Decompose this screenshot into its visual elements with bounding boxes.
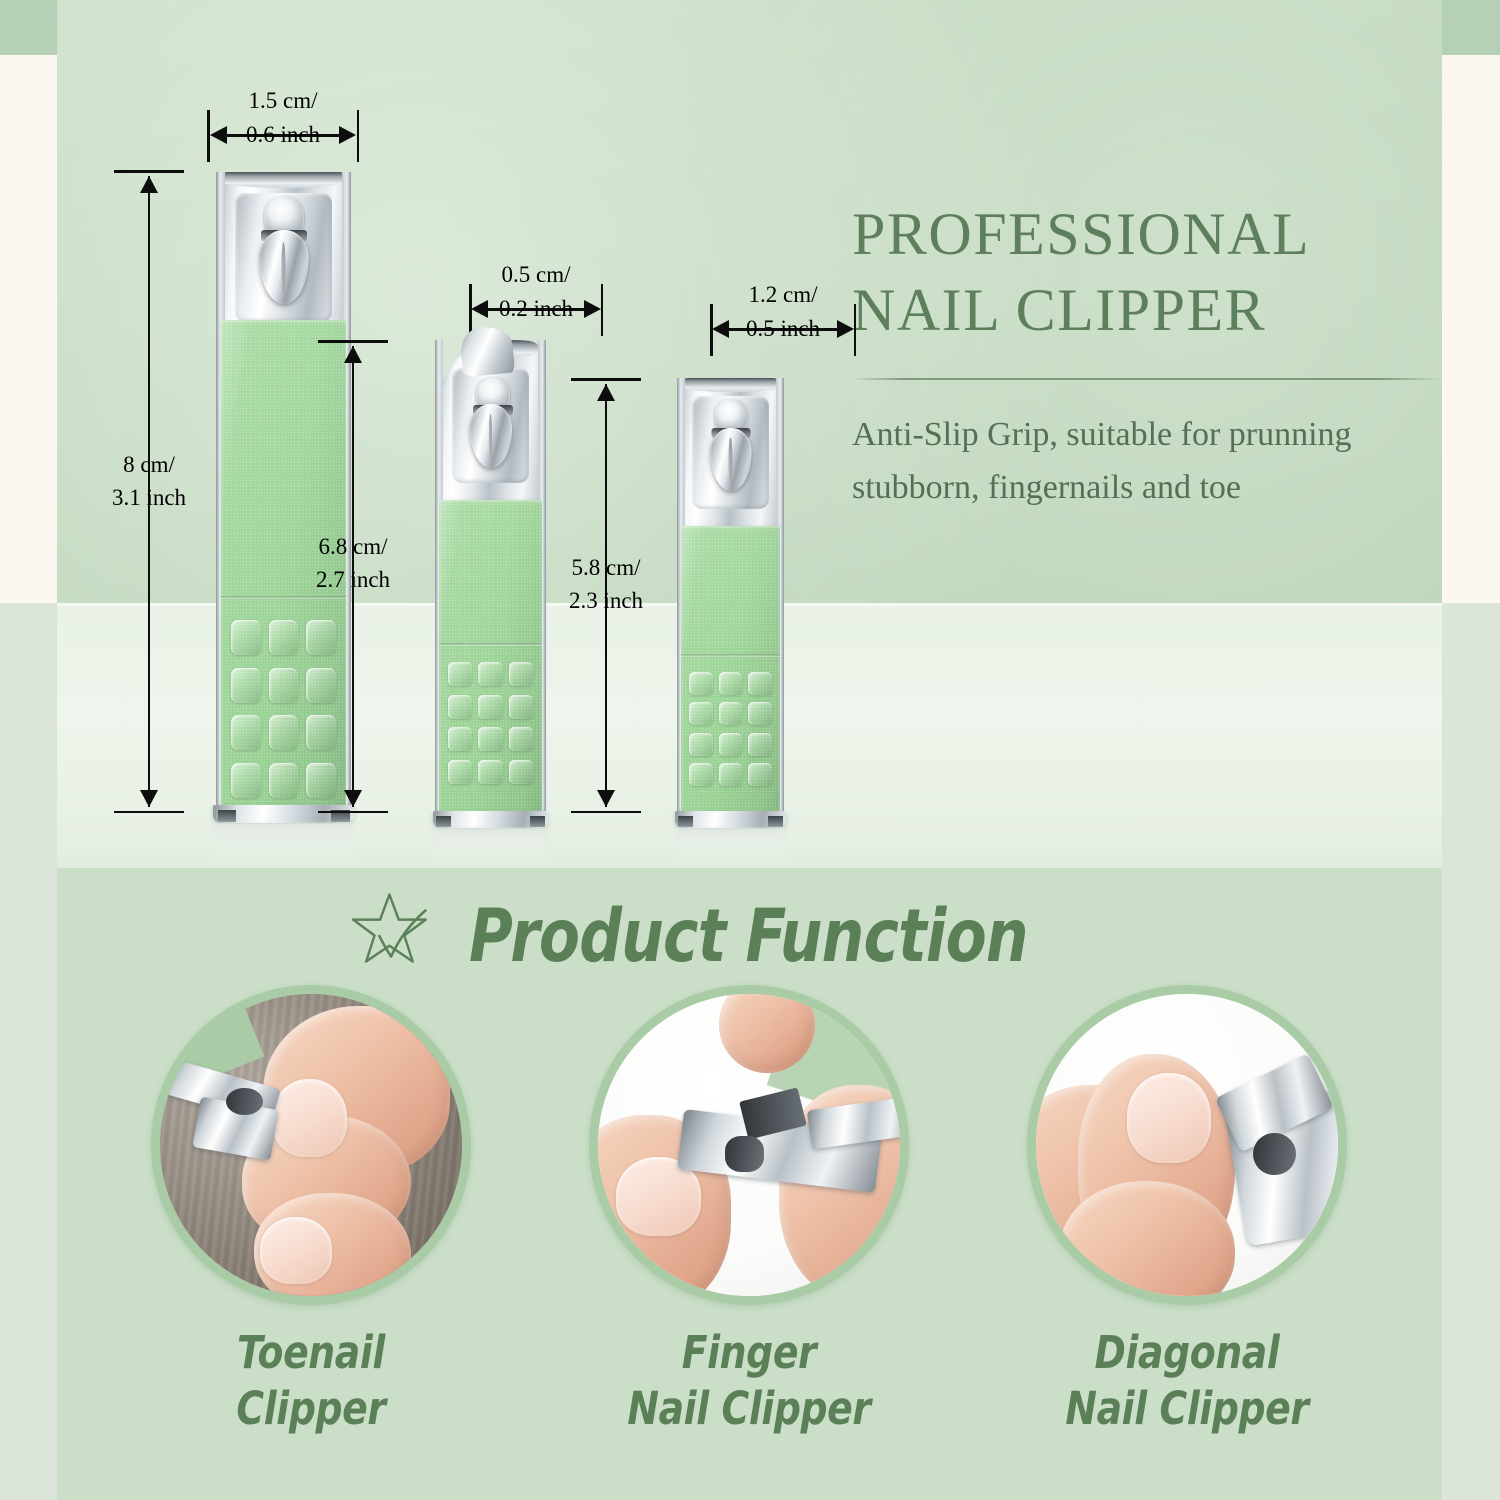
grip-bump bbox=[231, 620, 261, 655]
frame-muted-block-right bbox=[1442, 603, 1500, 1500]
clipper-small-base-notch-left bbox=[678, 816, 692, 827]
grip-bump bbox=[719, 733, 743, 756]
headline-line-2: NAIL CLIPPER bbox=[852, 272, 1412, 348]
clipper-medium-grip-pad bbox=[439, 500, 541, 811]
function-card-toenail[interactable]: Toenail Clipper bbox=[151, 985, 471, 1437]
clipper-medium-base-notch-left bbox=[436, 816, 451, 827]
clipper-large-base-notch-left bbox=[218, 810, 236, 821]
clipper-tool-pivot bbox=[1253, 1133, 1295, 1175]
clipper-small-reflection bbox=[675, 828, 786, 868]
product-function-heading: Product Function bbox=[349, 885, 1150, 988]
caption-diagonal: Diagonal Nail Clipper bbox=[1027, 1325, 1347, 1437]
width-label-large-inch: 0.6 inch bbox=[167, 120, 399, 150]
grip-bump bbox=[269, 620, 299, 655]
dimensions-section: PROFESSIONAL NAIL CLIPPER Anti-Slip Grip… bbox=[57, 0, 1442, 868]
height-label-large-inch: 3.1 inch bbox=[57, 483, 242, 513]
clipper-small-base bbox=[675, 811, 786, 828]
clipper-small-grip-pad bbox=[681, 526, 779, 811]
clipper-large-reflection bbox=[213, 823, 353, 868]
clipper-medium-base bbox=[433, 811, 548, 828]
grip-bump bbox=[448, 727, 473, 751]
clipper-medium-reflection bbox=[433, 828, 548, 868]
grip-bump bbox=[478, 662, 503, 686]
headline-line-1: PROFESSIONAL bbox=[852, 196, 1412, 272]
height-label-small-cm: 5.8 cm/ bbox=[525, 553, 687, 583]
grip-bump bbox=[509, 760, 534, 784]
clipper-small-bump-grid bbox=[689, 672, 772, 786]
clipper-tool-pivot bbox=[725, 1136, 764, 1172]
caption-diagonal-line-2: Nail Clipper bbox=[1053, 1381, 1322, 1437]
toenail-shape bbox=[272, 1079, 348, 1158]
height-measure-large: 8 cm/ 3.1 inch bbox=[106, 170, 192, 813]
title-block: PROFESSIONAL NAIL CLIPPER Anti-Slip Grip… bbox=[852, 196, 1412, 514]
clipper-small-base-notch-right bbox=[768, 816, 782, 827]
grip-bump bbox=[231, 668, 261, 703]
grip-bump bbox=[689, 672, 713, 695]
clipper-medium-grip-seam bbox=[439, 643, 541, 646]
grip-bump bbox=[509, 695, 534, 719]
grip-bump bbox=[748, 763, 772, 786]
grip-bump bbox=[719, 763, 743, 786]
subheadline-text: Anti-Slip Grip, suitable for prunning st… bbox=[852, 408, 1430, 514]
fingernail-shape bbox=[1127, 1073, 1212, 1164]
function-cards: Toenail Clipper bbox=[57, 985, 1442, 1485]
grip-bump bbox=[478, 760, 503, 784]
infographic-panel: PROFESSIONAL NAIL CLIPPER Anti-Slip Grip… bbox=[57, 0, 1442, 1500]
grip-bump bbox=[748, 733, 772, 756]
width-label-small-cm: 1.2 cm/ bbox=[668, 280, 898, 310]
height-label-medium-cm: 6.8 cm/ bbox=[272, 532, 434, 562]
frame-cream-block-left bbox=[0, 55, 57, 603]
grip-bump bbox=[748, 702, 772, 725]
photo-fingernail-clipping bbox=[598, 994, 900, 1296]
width-label-large-cm: 1.5 cm/ bbox=[167, 86, 399, 116]
product-function-title: Product Function bbox=[469, 894, 1028, 979]
photo-ring-diagonal bbox=[1027, 985, 1347, 1305]
clipper-small bbox=[677, 378, 784, 814]
title-divider bbox=[852, 378, 1440, 380]
height-label-small-inch: 2.3 inch bbox=[525, 586, 687, 616]
function-card-finger[interactable]: Finger Nail Clipper bbox=[589, 985, 909, 1437]
height-measure-small: 5.8 cm/ 2.3 inch bbox=[563, 378, 649, 813]
caption-finger-line-2: Nail Clipper bbox=[615, 1381, 884, 1437]
clipper-small-top-edge bbox=[679, 378, 782, 392]
width-label-medium-cm: 0.5 cm/ bbox=[421, 260, 651, 290]
height-label-large-cm: 8 cm/ bbox=[57, 450, 242, 480]
grip-bump bbox=[231, 715, 261, 750]
width-label-medium-inch: 0.2 inch bbox=[421, 294, 651, 324]
frame-muted-block-left bbox=[0, 603, 57, 1500]
caption-toenail-line-1: Toenail Clipper bbox=[177, 1325, 446, 1437]
clipper-small-head bbox=[677, 378, 784, 530]
caption-toenail: Toenail Clipper bbox=[151, 1325, 471, 1437]
frame-cream-block-right bbox=[1442, 55, 1500, 603]
caption-finger: Finger Nail Clipper bbox=[589, 1325, 909, 1437]
clipper-small-lever-crease bbox=[729, 438, 732, 483]
photo-ring-finger bbox=[589, 985, 909, 1305]
grip-bump bbox=[478, 727, 503, 751]
grip-bump bbox=[689, 702, 713, 725]
photo-diagonal-clipping bbox=[1036, 994, 1338, 1296]
photo-toenail-clipping bbox=[160, 994, 462, 1296]
grip-bump bbox=[509, 662, 534, 686]
grip-bump bbox=[509, 727, 534, 751]
clipper-medium-bump-grid bbox=[448, 662, 534, 784]
photo-ring-toenail bbox=[151, 985, 471, 1305]
function-card-diagonal[interactable]: Diagonal Nail Clipper bbox=[1027, 985, 1347, 1437]
clipper-medium-lever-crease bbox=[489, 414, 492, 460]
grip-bump bbox=[719, 672, 743, 695]
clipper-medium-base-notch-right bbox=[530, 816, 545, 827]
height-measure-medium: 6.8 cm/ 2.7 inch bbox=[310, 340, 396, 813]
clipper-small-grip-seam bbox=[681, 654, 779, 657]
grip-bump bbox=[269, 668, 299, 703]
grip-bump bbox=[448, 695, 473, 719]
grip-bump bbox=[689, 763, 713, 786]
clipper-tool-pivot bbox=[226, 1088, 262, 1115]
grip-bump bbox=[478, 695, 503, 719]
product-function-section: Product Function bbox=[57, 868, 1442, 1500]
caption-diagonal-line-1: Diagonal bbox=[1053, 1325, 1322, 1381]
grip-bump bbox=[748, 672, 772, 695]
grip-bump bbox=[719, 702, 743, 725]
height-label-medium-inch: 2.7 inch bbox=[272, 565, 434, 595]
star-check-icon bbox=[349, 885, 447, 988]
grip-bump bbox=[689, 733, 713, 756]
grip-bump bbox=[231, 763, 261, 798]
grip-bump bbox=[448, 760, 473, 784]
clipper-large-top-edge bbox=[219, 172, 349, 188]
width-label-small-inch: 0.5 inch bbox=[668, 314, 898, 344]
grip-bump bbox=[269, 715, 299, 750]
toenail-shape bbox=[260, 1217, 332, 1283]
grip-bump bbox=[448, 662, 473, 686]
grip-bump bbox=[269, 763, 299, 798]
clipper-large-lever-crease bbox=[282, 242, 286, 295]
caption-finger-line-1: Finger bbox=[615, 1325, 884, 1381]
